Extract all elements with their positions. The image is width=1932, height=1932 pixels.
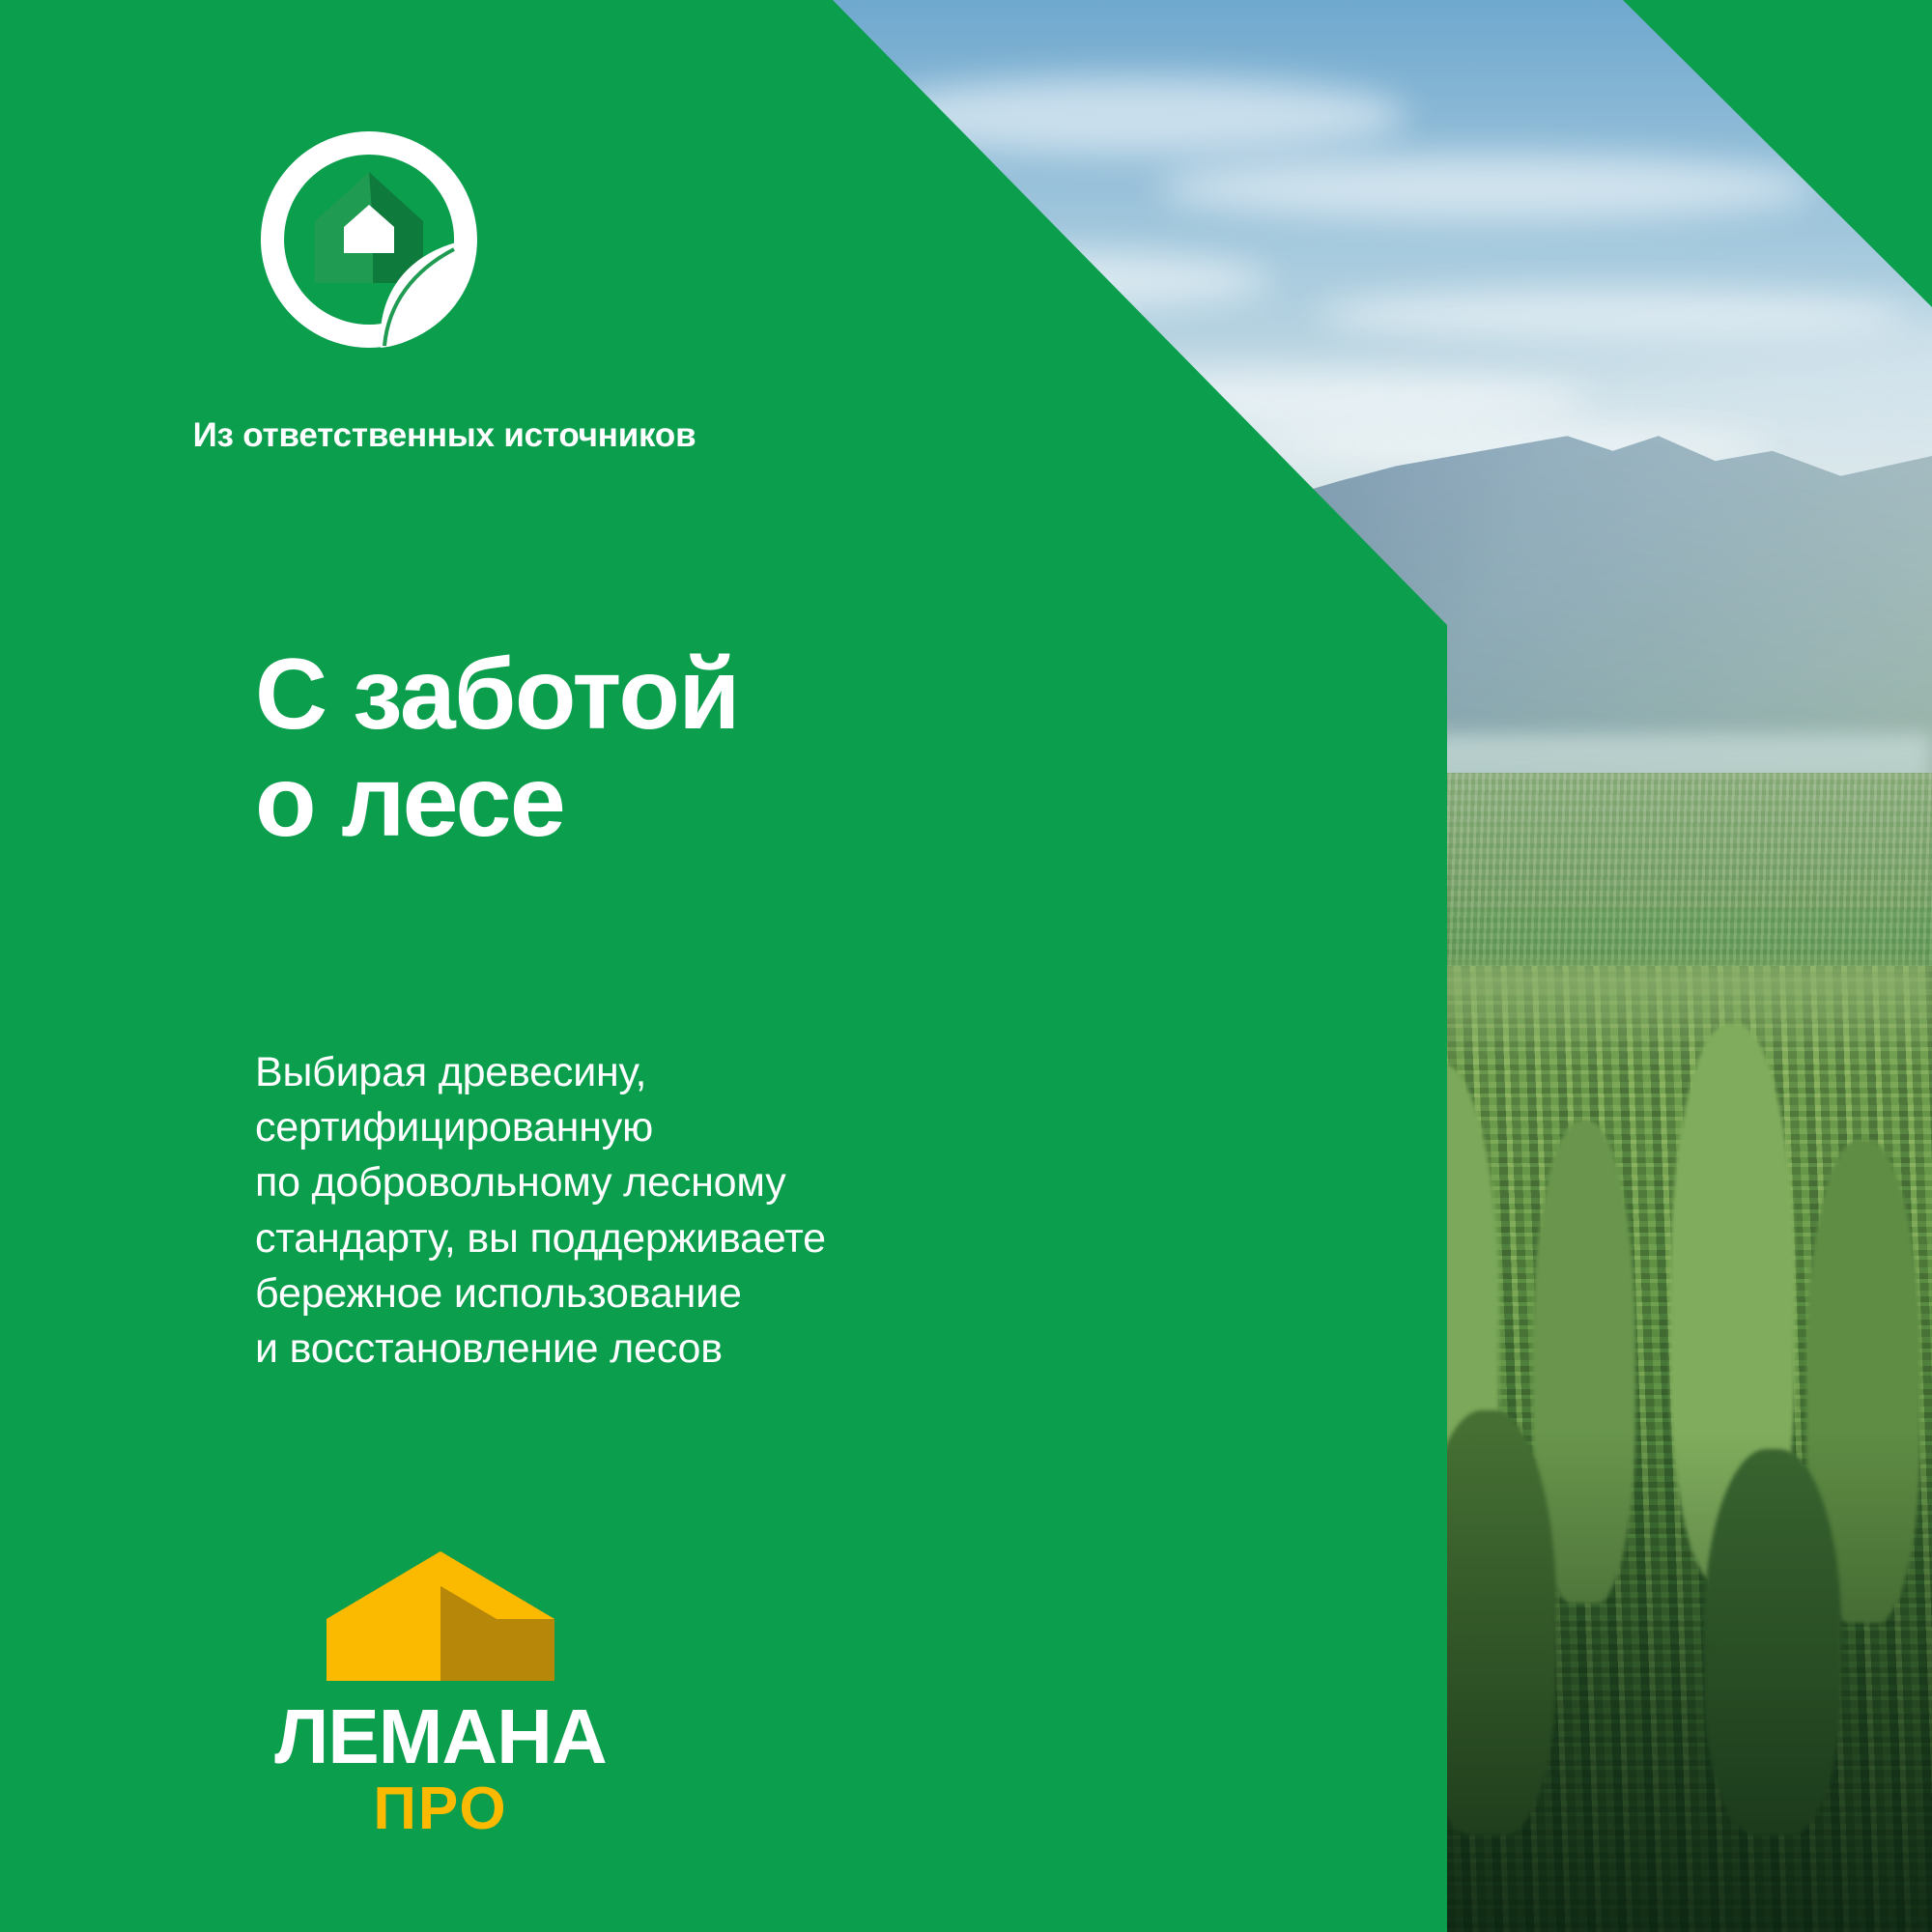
page-title: С заботой о лесе [255, 641, 1124, 857]
lemana-pro-wordmark: ЛЕМАНА [267, 1698, 614, 1776]
body-copy: Выбирая древесину, сертифицированную по … [255, 1045, 1047, 1377]
poster-canvas: Из ответственных источников С заботой о … [0, 0, 1932, 1932]
lemana-pro-logo: ЛЕМАНА ПРО [267, 1548, 614, 1837]
responsible-sourcing-label: Из ответственных источников [174, 415, 715, 455]
responsible-sourcing-leaf-house-icon [253, 124, 485, 355]
poster-content: Из ответственных источников С заботой о … [0, 0, 1447, 1932]
lemana-pro-suffix: ПРО [267, 1779, 614, 1839]
lemana-pro-house-icon [319, 1548, 562, 1685]
